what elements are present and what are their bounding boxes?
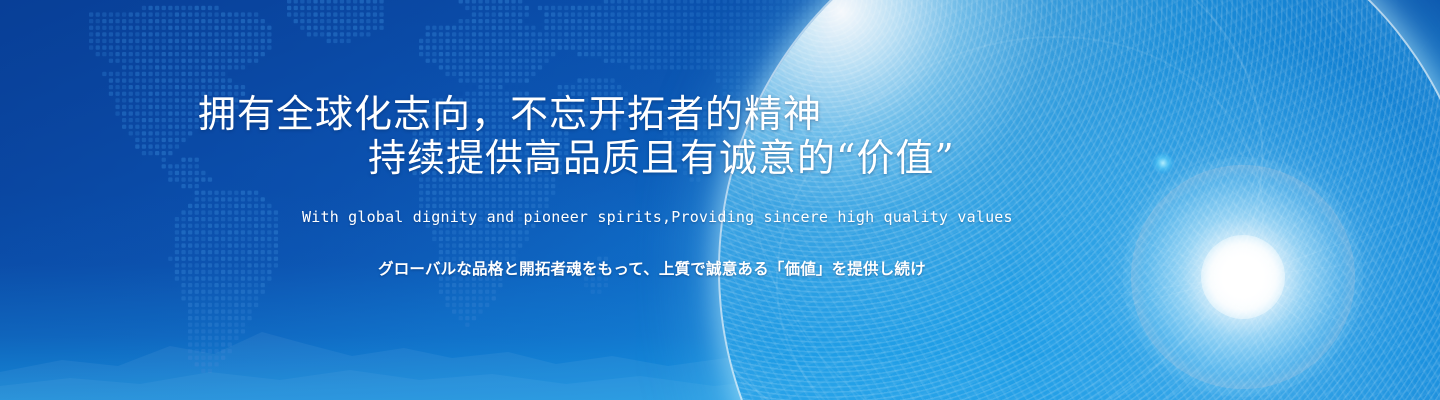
- subtitle-english: With global dignity and pioneer spirits,…: [302, 206, 1013, 228]
- headline-line-2: 持续提供高品质且有诚意的“价值”: [368, 136, 955, 180]
- headline-line-1: 拥有全球化志向，不忘开拓者的精神: [198, 92, 822, 136]
- hero-banner: 拥有全球化志向，不忘开拓者的精神 持续提供高品质且有诚意的“价值” With g…: [0, 0, 1440, 400]
- subtitle-japanese: グローバルな品格と開拓者魂をもって、上質で誠意ある「価値」を提供し続け: [378, 258, 926, 280]
- banner-copy: 拥有全球化志向，不忘开拓者的精神 持续提供高品质且有诚意的“价值” With g…: [0, 0, 1440, 400]
